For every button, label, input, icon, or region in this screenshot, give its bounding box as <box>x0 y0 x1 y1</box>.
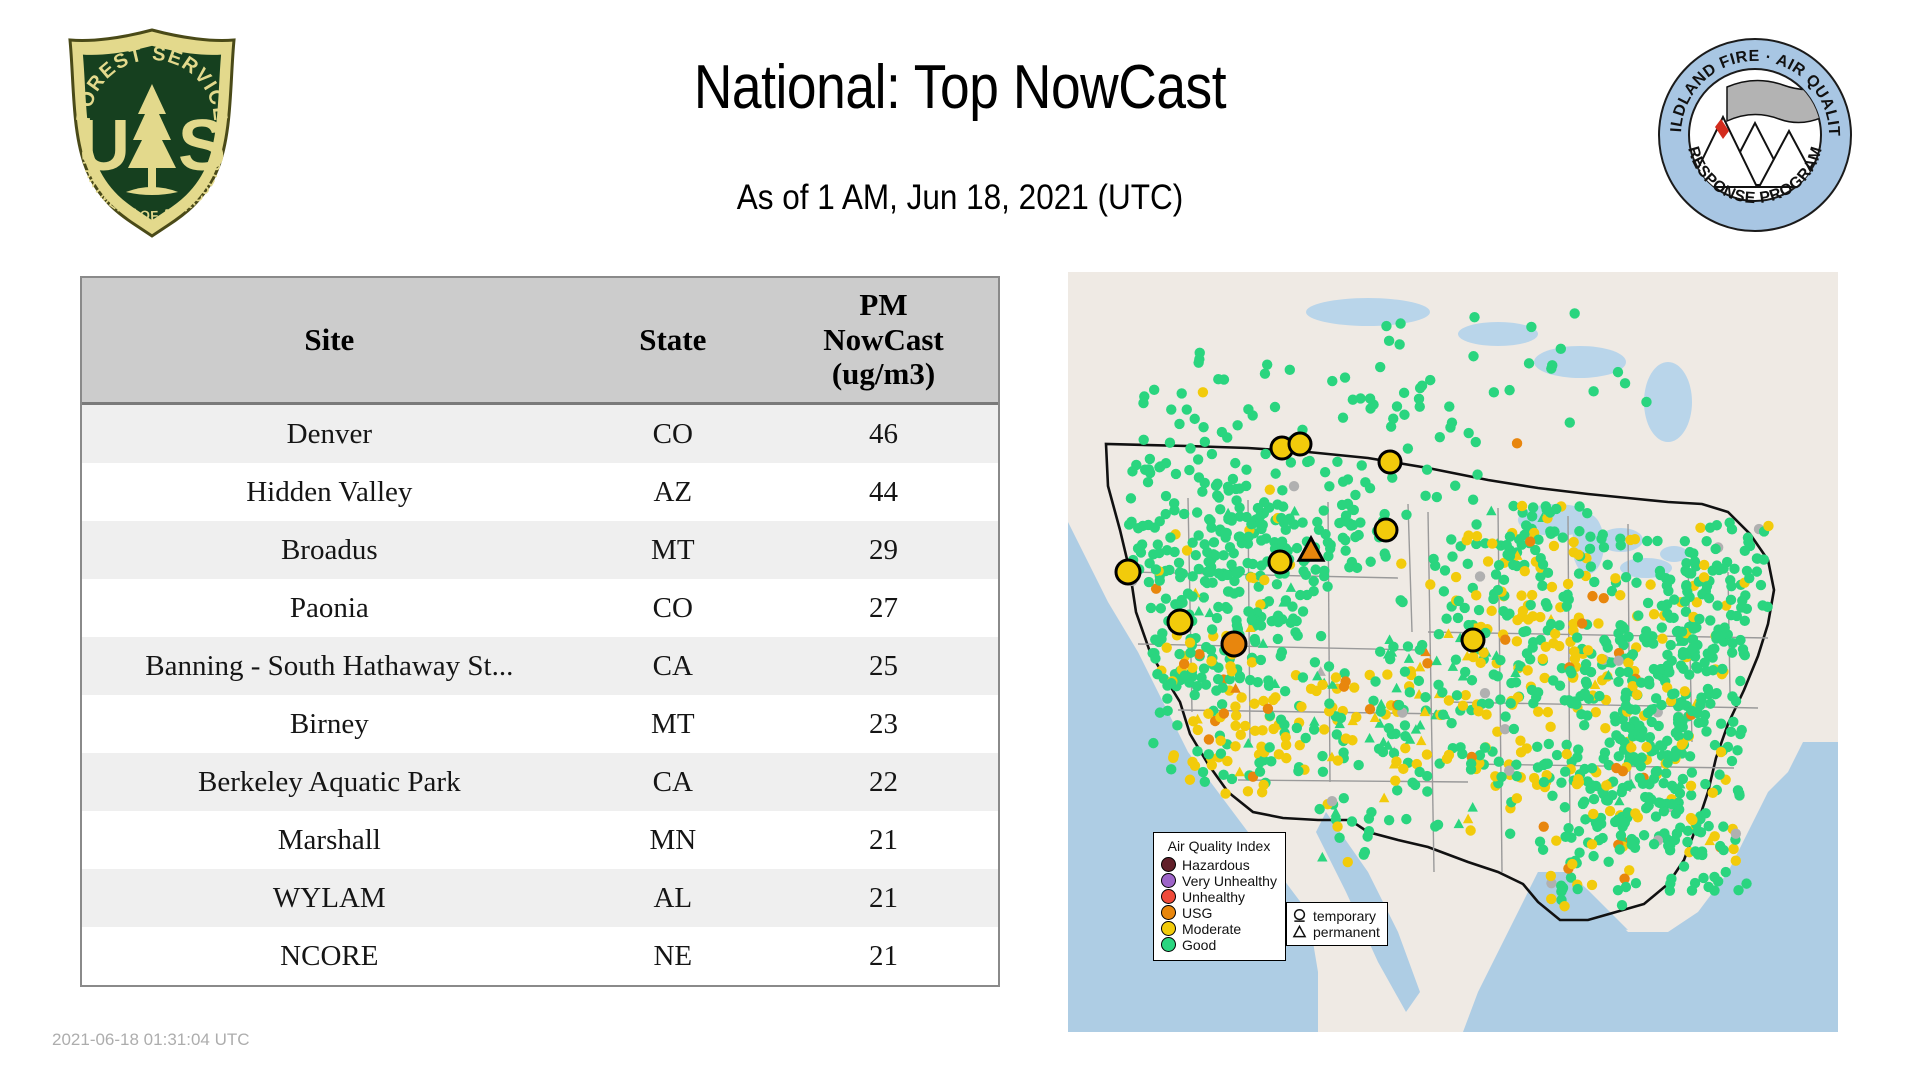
monitor-marker[interactable] <box>1347 816 1357 826</box>
monitor-marker[interactable] <box>1699 560 1709 570</box>
monitor-marker[interactable] <box>1727 756 1737 766</box>
monitor-marker[interactable] <box>1414 394 1424 404</box>
monitor-marker[interactable] <box>1422 749 1432 759</box>
monitor-marker[interactable] <box>1298 566 1308 576</box>
table-row[interactable]: BirneyMT23 <box>82 695 998 753</box>
monitor-marker[interactable] <box>1666 640 1676 650</box>
monitor-marker[interactable] <box>1343 857 1353 867</box>
monitor-marker[interactable] <box>1469 312 1479 322</box>
monitor-marker[interactable] <box>1281 740 1291 750</box>
monitor-marker[interactable] <box>1499 575 1509 585</box>
monitor-marker[interactable] <box>1350 490 1360 500</box>
monitor-marker[interactable] <box>1521 626 1531 636</box>
monitor-marker[interactable] <box>1644 792 1654 802</box>
monitor-marker[interactable] <box>1633 610 1643 620</box>
monitor-marker[interactable] <box>1246 572 1256 582</box>
monitor-marker[interactable] <box>1615 590 1625 600</box>
monitor-marker[interactable] <box>1319 505 1329 515</box>
monitor-marker[interactable] <box>1451 572 1461 582</box>
monitor-marker[interactable] <box>1304 456 1314 466</box>
monitor-marker[interactable] <box>1665 574 1675 584</box>
monitor-marker[interactable] <box>1272 613 1282 623</box>
monitor-marker[interactable] <box>1175 572 1185 582</box>
monitor-marker[interactable] <box>1663 586 1673 596</box>
monitor-marker[interactable] <box>1337 500 1347 510</box>
table-row[interactable]: Berkeley Aquatic ParkCA22 <box>82 753 998 811</box>
monitor-marker[interactable] <box>1357 460 1367 470</box>
monitor-marker[interactable] <box>1218 770 1228 780</box>
monitor-marker[interactable] <box>1676 697 1686 707</box>
monitor-marker[interactable] <box>1552 750 1562 760</box>
monitor-marker[interactable] <box>1433 680 1443 690</box>
monitor-marker[interactable] <box>1219 708 1229 718</box>
monitor-marker[interactable] <box>1512 793 1522 803</box>
monitor-marker[interactable] <box>1517 501 1527 511</box>
monitor-marker[interactable] <box>1680 536 1690 546</box>
monitor-marker[interactable] <box>1241 464 1251 474</box>
monitor-marker[interactable] <box>1573 744 1583 754</box>
monitor-marker[interactable] <box>1325 543 1335 553</box>
monitor-marker[interactable] <box>1230 721 1240 731</box>
monitor-marker[interactable] <box>1258 520 1268 530</box>
monitor-marker[interactable] <box>1235 566 1245 576</box>
monitor-marker[interactable] <box>1148 738 1158 748</box>
monitor-marker[interactable] <box>1623 632 1633 642</box>
monitor-marker[interactable] <box>1634 721 1644 731</box>
monitor-marker[interactable] <box>1587 839 1597 849</box>
monitor-marker[interactable] <box>1422 465 1432 475</box>
monitor-marker[interactable] <box>1193 725 1203 735</box>
monitor-marker[interactable] <box>1586 667 1596 677</box>
monitor-marker[interactable] <box>1207 624 1217 634</box>
monitor-marker[interactable] <box>1444 401 1454 411</box>
monitor-marker[interactable] <box>1658 778 1668 788</box>
monitor-marker[interactable] <box>1500 634 1510 644</box>
monitor-marker[interactable] <box>1704 593 1714 603</box>
monitor-marker[interactable] <box>1403 443 1413 453</box>
monitor-marker[interactable] <box>1563 579 1573 589</box>
monitor-marker[interactable] <box>1243 532 1253 542</box>
monitor-marker[interactable] <box>1236 730 1246 740</box>
monitor-marker[interactable] <box>1651 811 1661 821</box>
monitor-marker[interactable] <box>1701 726 1711 736</box>
monitor-marker[interactable] <box>1680 686 1690 696</box>
table-row[interactable]: PaoniaCO27 <box>82 579 998 637</box>
monitor-marker[interactable] <box>1539 777 1549 787</box>
monitor-marker[interactable] <box>1270 402 1280 412</box>
monitor-marker[interactable] <box>1483 556 1493 566</box>
monitor-marker[interactable] <box>1165 438 1175 448</box>
monitor-marker[interactable] <box>1703 684 1713 694</box>
monitor-marker[interactable] <box>1664 667 1674 677</box>
monitor-marker[interactable] <box>1621 572 1631 582</box>
monitor-marker[interactable] <box>1523 614 1533 624</box>
monitor-marker[interactable] <box>1263 704 1273 714</box>
monitor-marker[interactable] <box>1127 466 1137 476</box>
monitor-marker[interactable] <box>1627 840 1637 850</box>
monitor-marker[interactable] <box>1645 579 1655 589</box>
monitor-marker[interactable] <box>1716 719 1726 729</box>
monitor-marker[interactable] <box>1432 492 1442 502</box>
monitor-marker[interactable] <box>1611 730 1621 740</box>
monitor-marker[interactable] <box>1339 681 1349 691</box>
monitor-marker[interactable] <box>1495 655 1505 665</box>
table-row[interactable]: Banning - South Hathaway St...CA25 <box>82 637 998 695</box>
monitor-marker[interactable] <box>1150 653 1160 663</box>
monitor-marker[interactable] <box>1726 727 1736 737</box>
monitor-marker[interactable] <box>1420 491 1430 501</box>
monitor-marker[interactable] <box>1544 739 1554 749</box>
monitor-marker[interactable] <box>1642 536 1652 546</box>
monitor-marker[interactable] <box>1547 582 1557 592</box>
column-header-site[interactable]: Site <box>82 278 577 404</box>
monitor-marker[interactable] <box>1217 682 1227 692</box>
monitor-marker[interactable] <box>1621 701 1631 711</box>
monitor-marker[interactable] <box>1707 644 1717 654</box>
monitor-marker[interactable] <box>1439 586 1449 596</box>
monitor-marker[interactable] <box>1704 821 1714 831</box>
monitor-marker[interactable] <box>1166 404 1176 414</box>
monitor-marker[interactable] <box>1613 656 1623 666</box>
monitor-marker[interactable] <box>1410 780 1420 790</box>
monitor-marker[interactable] <box>1203 709 1213 719</box>
monitor-marker[interactable] <box>1685 751 1695 761</box>
monitor-marker[interactable] <box>1256 535 1266 545</box>
monitor-marker[interactable] <box>1327 796 1337 806</box>
monitor-marker[interactable] <box>1232 420 1242 430</box>
monitor-marker[interactable] <box>1255 766 1265 776</box>
monitor-marker[interactable] <box>1688 624 1698 634</box>
monitor-marker[interactable] <box>1589 794 1599 804</box>
monitor-marker[interactable] <box>1679 861 1689 871</box>
top-nowcast-marker[interactable] <box>1168 610 1192 634</box>
monitor-marker[interactable] <box>1521 520 1531 530</box>
monitor-marker[interactable] <box>1628 649 1638 659</box>
monitor-marker[interactable] <box>1694 614 1704 624</box>
monitor-marker[interactable] <box>1161 491 1171 501</box>
monitor-marker[interactable] <box>1509 724 1519 734</box>
monitor-marker[interactable] <box>1360 847 1370 857</box>
monitor-marker[interactable] <box>1565 666 1575 676</box>
monitor-marker[interactable] <box>1598 753 1608 763</box>
monitor-marker[interactable] <box>1365 704 1375 714</box>
monitor-marker[interactable] <box>1654 797 1664 807</box>
monitor-marker[interactable] <box>1192 746 1202 756</box>
monitor-marker[interactable] <box>1340 535 1350 545</box>
monitor-marker[interactable] <box>1586 561 1596 571</box>
monitor-marker[interactable] <box>1454 596 1464 606</box>
monitor-marker[interactable] <box>1589 577 1599 587</box>
monitor-marker[interactable] <box>1560 802 1570 812</box>
monitor-marker[interactable] <box>1151 564 1161 574</box>
monitor-marker[interactable] <box>1301 733 1311 743</box>
monitor-marker[interactable] <box>1735 676 1745 686</box>
monitor-marker[interactable] <box>1430 821 1440 831</box>
monitor-marker[interactable] <box>1222 570 1232 580</box>
monitor-marker[interactable] <box>1370 676 1380 686</box>
monitor-marker[interactable] <box>1486 606 1496 616</box>
monitor-marker[interactable] <box>1309 576 1319 586</box>
monitor-marker[interactable] <box>1414 767 1424 777</box>
monitor-marker[interactable] <box>1311 686 1321 696</box>
monitor-marker[interactable] <box>1741 878 1751 888</box>
monitor-marker[interactable] <box>1728 717 1738 727</box>
monitor-marker[interactable] <box>1587 880 1597 890</box>
monitor-marker[interactable] <box>1675 822 1685 832</box>
monitor-marker[interactable] <box>1276 651 1286 661</box>
monitor-marker[interactable] <box>1657 622 1667 632</box>
table-row[interactable]: BroadusMT29 <box>82 521 998 579</box>
monitor-marker[interactable] <box>1620 378 1630 388</box>
monitor-marker[interactable] <box>1240 721 1250 731</box>
monitor-marker[interactable] <box>1277 536 1287 546</box>
monitor-marker[interactable] <box>1532 742 1542 752</box>
monitor-marker[interactable] <box>1716 747 1726 757</box>
monitor-marker[interactable] <box>1324 661 1334 671</box>
monitor-marker[interactable] <box>1740 616 1750 626</box>
monitor-marker[interactable] <box>1504 608 1514 618</box>
monitor-marker[interactable] <box>1466 759 1476 769</box>
monitor-marker[interactable] <box>1662 650 1672 660</box>
monitor-marker[interactable] <box>1384 723 1394 733</box>
monitor-marker[interactable] <box>1582 679 1592 689</box>
monitor-marker[interactable] <box>1616 540 1626 550</box>
monitor-marker[interactable] <box>1430 561 1440 571</box>
monitor-marker[interactable] <box>1719 622 1729 632</box>
monitor-marker[interactable] <box>1172 720 1182 730</box>
monitor-marker[interactable] <box>1487 538 1497 548</box>
monitor-marker[interactable] <box>1677 626 1687 636</box>
monitor-marker[interactable] <box>1268 695 1278 705</box>
monitor-marker[interactable] <box>1500 711 1510 721</box>
monitor-marker[interactable] <box>1649 839 1659 849</box>
monitor-marker[interactable] <box>1162 545 1172 555</box>
monitor-marker[interactable] <box>1262 359 1272 369</box>
monitor-marker[interactable] <box>1399 410 1409 420</box>
monitor-marker[interactable] <box>1737 596 1747 606</box>
monitor-marker[interactable] <box>1204 514 1214 524</box>
monitor-marker[interactable] <box>1222 756 1232 766</box>
monitor-marker[interactable] <box>1569 696 1579 706</box>
monitor-marker[interactable] <box>1473 706 1483 716</box>
monitor-marker[interactable] <box>1626 742 1636 752</box>
monitor-marker[interactable] <box>1731 696 1741 706</box>
monitor-marker[interactable] <box>1149 385 1159 395</box>
monitor-marker[interactable] <box>1471 590 1481 600</box>
monitor-marker[interactable] <box>1124 519 1134 529</box>
monitor-marker[interactable] <box>1391 756 1401 766</box>
monitor-marker[interactable] <box>1731 828 1741 838</box>
monitor-marker[interactable] <box>1169 750 1179 760</box>
monitor-marker[interactable] <box>1194 649 1204 659</box>
monitor-marker[interactable] <box>1665 886 1675 896</box>
monitor-marker[interactable] <box>1565 417 1575 427</box>
monitor-marker[interactable] <box>1214 492 1224 502</box>
monitor-marker[interactable] <box>1392 401 1402 411</box>
monitor-marker[interactable] <box>1489 387 1499 397</box>
monitor-marker[interactable] <box>1277 485 1287 495</box>
monitor-marker[interactable] <box>1295 590 1305 600</box>
monitor-marker[interactable] <box>1582 710 1592 720</box>
monitor-marker[interactable] <box>1585 784 1595 794</box>
monitor-marker[interactable] <box>1526 322 1536 332</box>
monitor-marker[interactable] <box>1548 675 1558 685</box>
monitor-marker[interactable] <box>1599 635 1609 645</box>
monitor-marker[interactable] <box>1317 751 1327 761</box>
monitor-marker[interactable] <box>1228 474 1238 484</box>
table-row[interactable]: WYLAMAL21 <box>82 869 998 927</box>
monitor-marker[interactable] <box>1332 821 1342 831</box>
monitor-marker[interactable] <box>1447 551 1457 561</box>
monitor-marker[interactable] <box>1623 667 1633 677</box>
column-header-state[interactable]: State <box>577 278 769 404</box>
monitor-marker[interactable] <box>1687 815 1697 825</box>
monitor-marker[interactable] <box>1644 676 1654 686</box>
monitor-marker[interactable] <box>1226 559 1236 569</box>
monitor-marker[interactable] <box>1471 519 1481 529</box>
monitor-marker[interactable] <box>1245 675 1255 685</box>
monitor-marker[interactable] <box>1185 443 1195 453</box>
monitor-marker[interactable] <box>1602 560 1612 570</box>
monitor-marker[interactable] <box>1631 578 1641 588</box>
monitor-marker[interactable] <box>1185 775 1195 785</box>
monitor-marker[interactable] <box>1273 634 1283 644</box>
monitor-marker[interactable] <box>1630 705 1640 715</box>
monitor-marker[interactable] <box>1400 720 1410 730</box>
monitor-marker[interactable] <box>1703 882 1713 892</box>
monitor-marker[interactable] <box>1574 568 1584 578</box>
monitor-marker[interactable] <box>1588 386 1598 396</box>
monitor-marker[interactable] <box>1394 339 1404 349</box>
monitor-marker[interactable] <box>1185 637 1195 647</box>
monitor-marker[interactable] <box>1229 548 1239 558</box>
monitor-marker[interactable] <box>1310 657 1320 667</box>
monitor-marker[interactable] <box>1179 509 1189 519</box>
monitor-marker[interactable] <box>1272 579 1282 589</box>
monitor-marker[interactable] <box>1166 678 1176 688</box>
monitor-marker[interactable] <box>1414 676 1424 686</box>
monitor-marker[interactable] <box>1349 682 1359 692</box>
monitor-marker[interactable] <box>1569 308 1579 318</box>
monitor-marker[interactable] <box>1472 469 1482 479</box>
monitor-marker[interactable] <box>1529 773 1539 783</box>
monitor-marker[interactable] <box>1657 601 1667 611</box>
monitor-marker[interactable] <box>1574 848 1584 858</box>
monitor-marker[interactable] <box>1546 529 1556 539</box>
monitor-marker[interactable] <box>1434 629 1444 639</box>
monitor-marker[interactable] <box>1380 551 1390 561</box>
monitor-marker[interactable] <box>1644 779 1654 789</box>
monitor-marker[interactable] <box>1198 422 1208 432</box>
monitor-marker[interactable] <box>1322 581 1332 591</box>
monitor-marker[interactable] <box>1603 795 1613 805</box>
monitor-marker[interactable] <box>1463 428 1473 438</box>
monitor-marker[interactable] <box>1375 362 1385 372</box>
monitor-marker[interactable] <box>1527 685 1537 695</box>
monitor-marker[interactable] <box>1415 383 1425 393</box>
monitor-marker[interactable] <box>1194 472 1204 482</box>
monitor-marker[interactable] <box>1515 736 1525 746</box>
monitor-marker[interactable] <box>1572 884 1582 894</box>
monitor-marker[interactable] <box>1403 641 1413 651</box>
monitor-marker[interactable] <box>1493 671 1503 681</box>
top-nowcast-marker[interactable] <box>1289 433 1311 455</box>
monitor-marker[interactable] <box>1611 763 1621 773</box>
monitor-marker[interactable] <box>1276 714 1286 724</box>
monitor-marker[interactable] <box>1559 901 1569 911</box>
monitor-marker[interactable] <box>1632 757 1642 767</box>
monitor-marker[interactable] <box>1247 657 1257 667</box>
monitor-marker[interactable] <box>1594 691 1604 701</box>
monitor-marker[interactable] <box>1511 677 1521 687</box>
monitor-marker[interactable] <box>1549 541 1559 551</box>
monitor-marker[interactable] <box>1192 507 1202 517</box>
monitor-marker[interactable] <box>1230 701 1240 711</box>
monitor-marker[interactable] <box>1577 618 1587 628</box>
monitor-marker[interactable] <box>1505 829 1515 839</box>
monitor-marker[interactable] <box>1528 642 1538 652</box>
monitor-marker[interactable] <box>1551 836 1561 846</box>
monitor-marker[interactable] <box>1522 665 1532 675</box>
monitor-marker[interactable] <box>1400 743 1410 753</box>
monitor-marker[interactable] <box>1695 523 1705 533</box>
monitor-marker[interactable] <box>1598 529 1608 539</box>
monitor-marker[interactable] <box>1185 648 1195 658</box>
monitor-marker[interactable] <box>1686 781 1696 791</box>
monitor-marker[interactable] <box>1162 642 1172 652</box>
monitor-marker[interactable] <box>1334 833 1344 843</box>
monitor-marker[interactable] <box>1621 688 1631 698</box>
monitor-marker[interactable] <box>1194 354 1204 364</box>
monitor-marker[interactable] <box>1520 566 1530 576</box>
monitor-marker[interactable] <box>1579 764 1589 774</box>
monitor-marker[interactable] <box>1547 791 1557 801</box>
monitor-marker[interactable] <box>1693 826 1703 836</box>
monitor-marker[interactable] <box>1396 558 1406 568</box>
monitor-marker[interactable] <box>1187 537 1197 547</box>
monitor-marker[interactable] <box>1695 700 1705 710</box>
monitor-marker[interactable] <box>1264 742 1274 752</box>
monitor-marker[interactable] <box>1392 785 1402 795</box>
monitor-marker[interactable] <box>1700 779 1710 789</box>
monitor-marker[interactable] <box>1614 751 1624 761</box>
monitor-marker[interactable] <box>1222 604 1232 614</box>
monitor-marker[interactable] <box>1268 724 1278 734</box>
monitor-marker[interactable] <box>1206 645 1216 655</box>
monitor-marker[interactable] <box>1259 575 1269 585</box>
monitor-marker[interactable] <box>1547 360 1557 370</box>
monitor-marker[interactable] <box>1457 749 1467 759</box>
monitor-marker[interactable] <box>1199 592 1209 602</box>
top-nowcast-marker[interactable] <box>1462 629 1484 651</box>
monitor-marker[interactable] <box>1681 580 1691 590</box>
monitor-marker[interactable] <box>1613 677 1623 687</box>
monitor-marker[interactable] <box>1710 544 1720 554</box>
monitor-marker[interactable] <box>1258 780 1268 790</box>
monitor-marker[interactable] <box>1603 857 1613 867</box>
monitor-marker[interactable] <box>1270 468 1280 478</box>
monitor-marker[interactable] <box>1505 698 1515 708</box>
monitor-marker[interactable] <box>1260 369 1270 379</box>
monitor-marker[interactable] <box>1200 777 1210 787</box>
monitor-marker[interactable] <box>1613 885 1623 895</box>
monitor-marker[interactable] <box>1674 722 1684 732</box>
monitor-marker[interactable] <box>1613 367 1623 377</box>
top-nowcast-marker[interactable] <box>1269 551 1291 573</box>
monitor-marker[interactable] <box>1253 503 1263 513</box>
monitor-marker[interactable] <box>1630 534 1640 544</box>
monitor-marker[interactable] <box>1445 422 1455 432</box>
